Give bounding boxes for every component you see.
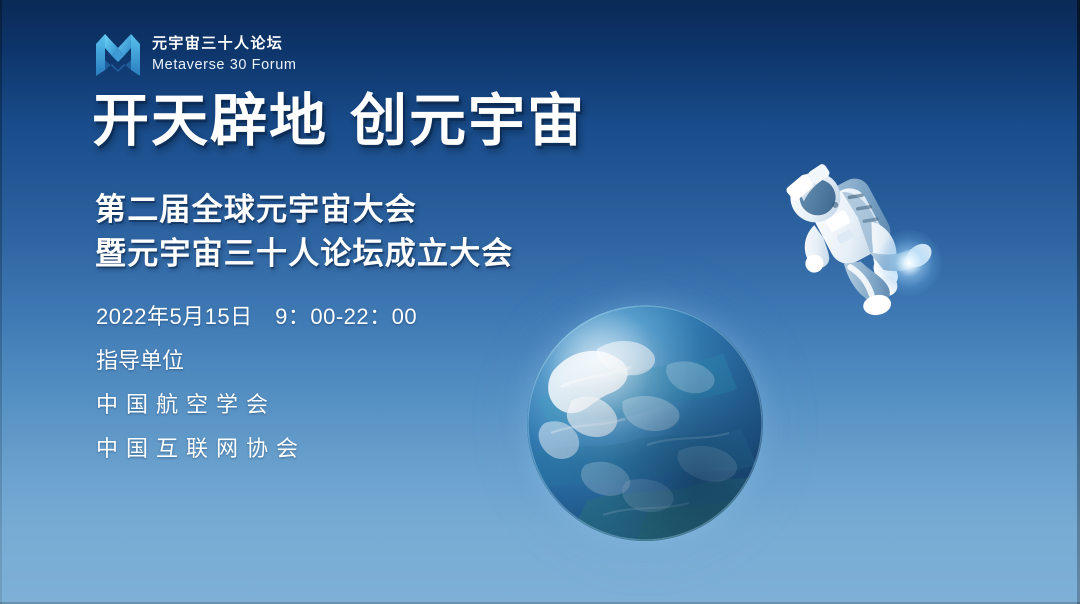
left-edge-border — [0, 0, 2, 604]
brand-name-en: Metaverse 30 Forum — [152, 56, 297, 75]
brand-lockup: 元宇宙三十人论坛 Metaverse 30 Forum — [95, 30, 297, 78]
event-subtitle-line-1: 第二届全球元宇宙大会 — [95, 188, 514, 232]
page-title: 开天辟地创元宇宙 — [92, 92, 586, 152]
brand-text: 元宇宙三十人论坛 Metaverse 30 Forum — [152, 33, 297, 75]
organizer-2: 中国互联网协会 — [96, 438, 417, 460]
event-poster: 元宇宙三十人论坛 Metaverse 30 Forum 开天辟地创元宇宙 第二届… — [0, 0, 1080, 604]
headline-part-1: 开天辟地 — [92, 89, 328, 153]
event-subtitle-line-2: 暨元宇宙三十人论坛成立大会 — [95, 232, 514, 276]
earth-globe-icon — [527, 305, 763, 541]
astronaut-icon — [781, 152, 943, 320]
guidance-label: 指导单位 — [96, 350, 417, 372]
brand-name-cn: 元宇宙三十人论坛 — [152, 35, 297, 54]
metaverse-m-logo-icon — [95, 30, 141, 78]
event-date-time: 2022年5月15日 9：00-22：00 — [96, 306, 417, 328]
event-info: 2022年5月15日 9：00-22：00 指导单位 中国航空学会 中国互联网协… — [96, 306, 417, 460]
organizer-1: 中国航空学会 — [96, 394, 417, 416]
headline-part-2: 创元宇宙 — [350, 89, 586, 153]
event-subtitle: 第二届全球元宇宙大会 暨元宇宙三十人论坛成立大会 — [95, 188, 514, 276]
